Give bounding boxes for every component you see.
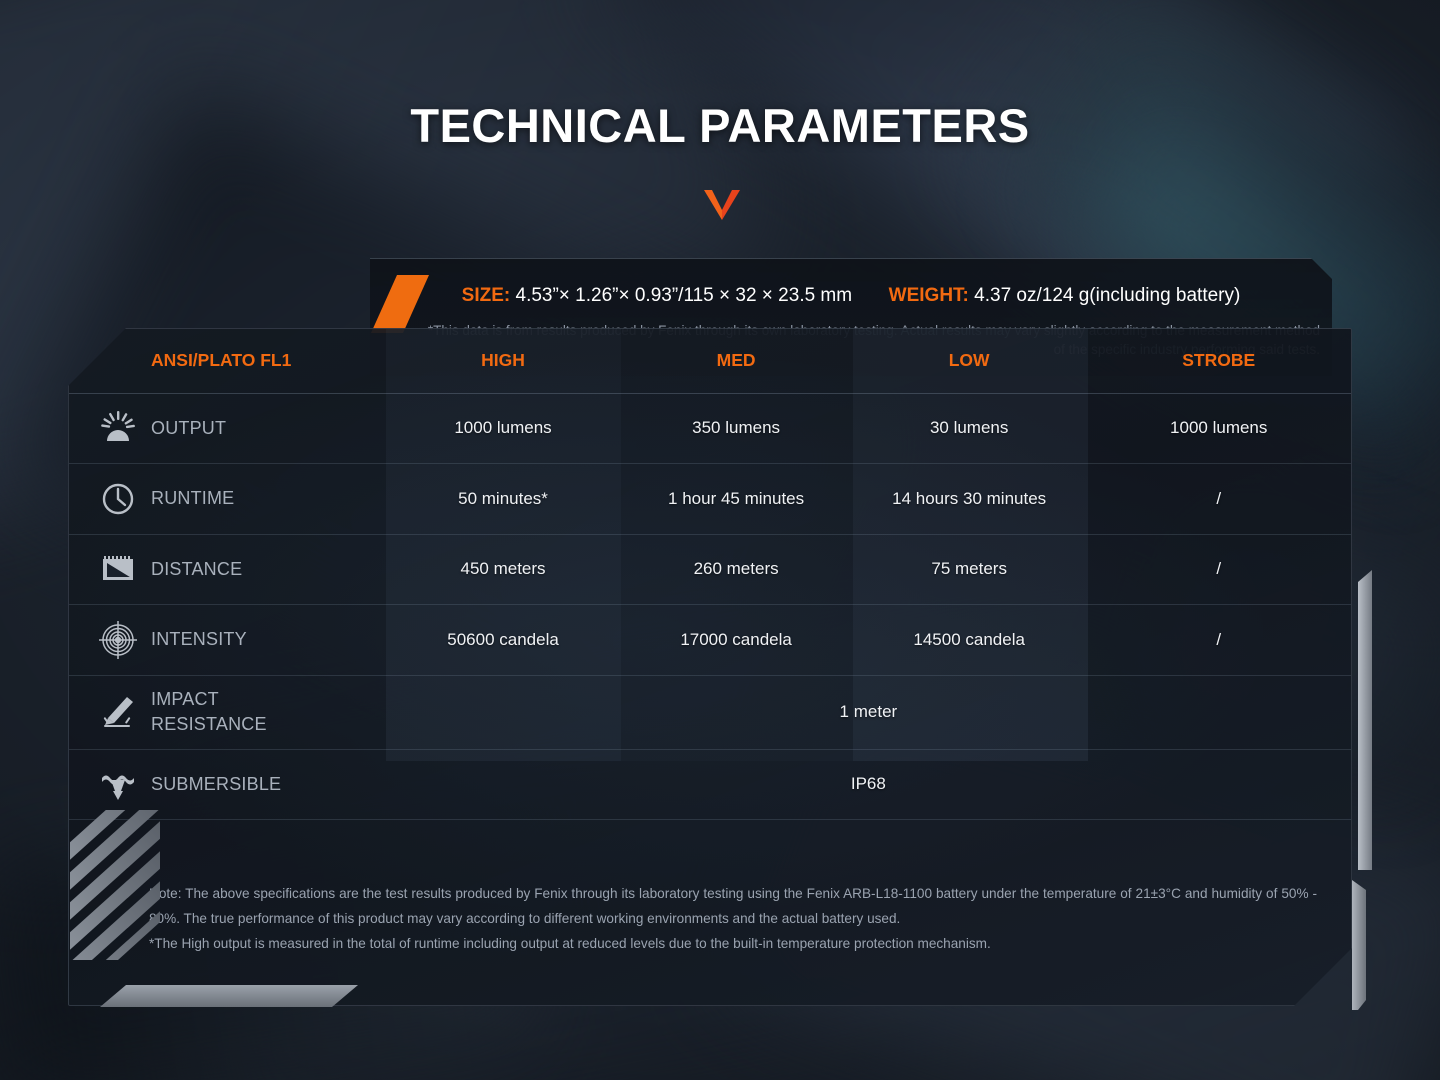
cell-output-strobe: 1000 lumens (1086, 393, 1351, 464)
row-label-distance: DISTANCE (69, 534, 386, 605)
column-header-med: MED (620, 329, 852, 393)
cell-distance-low: 75 meters (852, 534, 1087, 605)
row-label-text: RUNTIME (151, 488, 234, 508)
row-label-output: OUTPUT (69, 393, 386, 464)
row-label-runtime: RUNTIME (69, 464, 386, 535)
cell-runtime-low: 14 hours 30 minutes (852, 464, 1087, 535)
impact-icon (97, 691, 139, 733)
specs-panel: ANSI/PLATO FL1 HIGH MED LOW STROBE (68, 328, 1352, 1006)
cell-output-low: 30 lumens (852, 393, 1087, 464)
cell-submersible-value: IP68 (386, 749, 1351, 820)
table-header-row: ANSI/PLATO FL1 HIGH MED LOW STROBE (69, 329, 1351, 393)
footer-note-main: Note: The above specifications are the t… (149, 886, 1317, 926)
right-accent-rail (1358, 570, 1372, 870)
row-label-submersible: SUBMERSIBLE (69, 749, 386, 820)
column-header-low: LOW (852, 329, 1087, 393)
beam-distance-icon (97, 548, 139, 590)
table-row: SUBMERSIBLE IP68 (69, 749, 1351, 820)
table-row: RUNTIME 50 minutes* 1 hour 45 minutes 14… (69, 464, 1351, 535)
row-label-text: OUTPUT (151, 418, 226, 438)
column-header-high: HIGH (386, 329, 621, 393)
cell-intensity-med: 17000 candela (620, 605, 852, 676)
cell-runtime-high: 50 minutes* (386, 464, 621, 535)
bottom-accent-bar (100, 985, 358, 1007)
cell-intensity-strobe: / (1086, 605, 1351, 676)
specifications-table: ANSI/PLATO FL1 HIGH MED LOW STROBE (69, 329, 1351, 820)
chevron-down-icon (704, 190, 740, 220)
cell-output-med: 350 lumens (620, 393, 852, 464)
cell-distance-med: 260 meters (620, 534, 852, 605)
weight-label: WEIGHT: (889, 285, 969, 306)
target-intensity-icon (97, 619, 139, 661)
row-label-intensity: INTENSITY (69, 605, 386, 676)
cell-output-high: 1000 lumens (386, 393, 621, 464)
table-row: OUTPUT 1000 lumens 350 lumens 30 lumens … (69, 393, 1351, 464)
size-label: SIZE: (462, 285, 511, 306)
row-label-text: INTENSITY (151, 629, 247, 649)
table-row: INTENSITY 50600 candela 17000 candela 14… (69, 605, 1351, 676)
row-label-text: DISTANCE (151, 559, 242, 579)
footer-note: Note: The above specifications are the t… (149, 881, 1317, 956)
column-header-strobe: STROBE (1086, 329, 1351, 393)
footer-note-secondary: *The High output is measured in the tota… (149, 931, 1317, 956)
cell-runtime-strobe: / (1086, 464, 1351, 535)
cell-distance-high: 450 meters (386, 534, 621, 605)
table-row: IMPACT RESISTANCE 1 meter (69, 675, 1351, 749)
cell-impact-resistance-value: 1 meter (386, 675, 1351, 749)
page-title: TECHNICAL PARAMETERS (0, 98, 1440, 153)
cell-intensity-low: 14500 candela (852, 605, 1087, 676)
column-header-standard: ANSI/PLATO FL1 (69, 329, 386, 393)
sunburst-icon (97, 407, 139, 449)
right-accent-rail-lower (1352, 880, 1366, 1010)
cell-intensity-high: 50600 candela (386, 605, 621, 676)
table-row: DISTANCE 450 meters 260 meters 75 meters… (69, 534, 1351, 605)
row-label-text-line1: IMPACT (151, 689, 219, 709)
cell-runtime-med: 1 hour 45 minutes (620, 464, 852, 535)
cell-distance-strobe: / (1086, 534, 1351, 605)
submersible-icon (97, 763, 139, 805)
row-label-text-line2: RESISTANCE (151, 714, 267, 734)
size-value: 4.53”× 1.26”× 0.93”/115 × 32 × 23.5 mm (516, 285, 853, 306)
row-label-impact-resistance: IMPACT RESISTANCE (69, 675, 386, 749)
clock-icon (97, 478, 139, 520)
weight-value: 4.37 oz/124 g(including battery) (974, 285, 1240, 306)
row-label-text: SUBMERSIBLE (151, 774, 281, 794)
size-weight-line: SIZE: 4.53”× 1.26”× 0.93”/115 × 32 × 23.… (370, 285, 1332, 307)
